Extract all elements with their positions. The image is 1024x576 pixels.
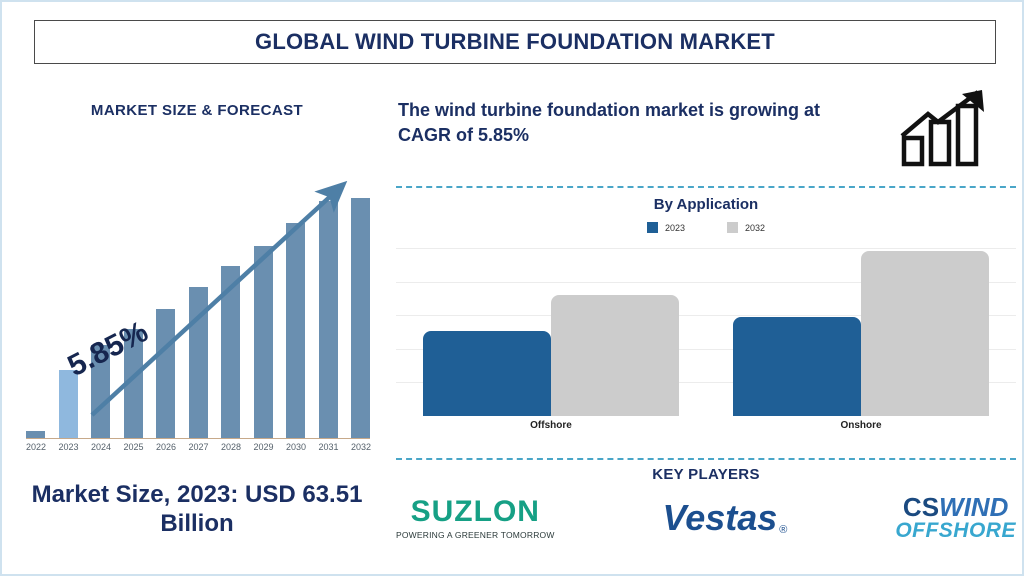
legend-swatch-2023	[647, 222, 658, 233]
market-size-bar-2027	[189, 287, 208, 438]
cswind-wordmark-line1: CSWIND	[903, 494, 1008, 520]
cswind-cs-text: CS	[903, 492, 939, 522]
market-size-year-2024: 2024	[91, 442, 110, 458]
growth-bar-chart-arrow-icon	[898, 88, 994, 168]
market-size-year-2029: 2029	[254, 442, 273, 458]
market-size-bar-2030	[286, 223, 305, 438]
market-size-year-2032: 2032	[351, 442, 370, 458]
bar-onshore-2023	[733, 317, 861, 416]
market-size-bar-2022	[26, 431, 45, 438]
market-size-year-2026: 2026	[156, 442, 175, 458]
page-title: GLOBAL WIND TURBINE FOUNDATION MARKET	[255, 29, 775, 55]
cagr-headline: The wind turbine foundation market is gr…	[398, 98, 858, 148]
legend-swatch-2032	[727, 222, 738, 233]
divider-bottom	[396, 458, 1016, 460]
bar-group-offshore	[396, 295, 706, 416]
legend-label-2032: 2032	[745, 223, 765, 233]
logo-suzlon[interactable]: SUZLON POWERING A GREENER TOMORROW	[396, 497, 555, 540]
by-application-legend: 20232032	[396, 222, 1016, 233]
market-size-year-2023: 2023	[59, 442, 78, 458]
logo-cs-wind-offshore[interactable]: CSWIND OFFSHORE	[895, 494, 1016, 542]
logo-vestas[interactable]: Vestas®	[663, 500, 788, 536]
by-application-chart: OffshoreOnshore	[396, 248, 1016, 438]
market-size-year-labels: 2022202320242025202620272028202920302031…	[26, 442, 370, 458]
market-size-heading: MARKET SIZE & FORECAST	[8, 102, 386, 119]
legend-label-2023: 2023	[665, 223, 685, 233]
cswind-wind-text: WIND	[939, 492, 1008, 522]
by-application-title: By Application	[396, 196, 1016, 213]
market-size-year-2028: 2028	[221, 442, 240, 458]
key-players-title: KEY PLAYERS	[396, 466, 1016, 483]
market-size-year-2031: 2031	[319, 442, 338, 458]
infographic-canvas: GLOBAL WIND TURBINE FOUNDATION MARKET MA…	[0, 0, 1024, 576]
market-size-bar-2029	[254, 246, 273, 438]
legend-item-2032: 2032	[727, 222, 765, 233]
category-label-onshore: Onshore	[706, 420, 1016, 431]
market-size-bar-2026	[156, 309, 175, 438]
suzlon-tagline: POWERING A GREENER TOMORROW	[396, 530, 555, 540]
registered-mark-icon: ®	[779, 524, 787, 536]
divider-top	[396, 186, 1016, 188]
bar-offshore-2023	[423, 331, 551, 416]
title-box: GLOBAL WIND TURBINE FOUNDATION MARKET	[34, 20, 996, 64]
market-size-baseline	[26, 438, 370, 439]
right-panel: The wind turbine foundation market is gr…	[392, 80, 1020, 572]
market-size-year-2022: 2022	[26, 442, 45, 458]
category-label-offshore: Offshore	[396, 420, 706, 431]
market-size-bar-2032	[351, 198, 370, 438]
market-size-chart: 2022202320242025202620272028202920302031…	[22, 175, 374, 460]
cswind-offshore-text: OFFSHORE	[895, 520, 1016, 542]
vestas-text: Vestas	[663, 497, 778, 538]
market-size-bar-2028	[221, 266, 240, 438]
vestas-wordmark: Vestas®	[663, 500, 788, 536]
market-size-bar-2025	[124, 329, 143, 438]
key-players-logos: SUZLON POWERING A GREENER TOMORROW Vesta…	[396, 486, 1016, 550]
by-application-bars	[396, 248, 1016, 416]
bar-onshore-2032	[861, 251, 989, 416]
market-size-panel: MARKET SIZE & FORECAST 20222023202420252…	[8, 80, 386, 572]
market-size-year-2027: 2027	[189, 442, 208, 458]
legend-item-2023: 2023	[647, 222, 685, 233]
market-size-bars	[26, 198, 370, 438]
bar-offshore-2032	[551, 295, 679, 416]
market-size-caption: Market Size, 2023: USD 63.51 Billion	[14, 480, 380, 539]
market-size-year-2025: 2025	[124, 442, 143, 458]
suzlon-wordmark: SUZLON	[411, 497, 540, 527]
market-size-bar-2023	[59, 370, 78, 438]
bar-group-onshore	[706, 251, 1016, 416]
market-size-year-2030: 2030	[286, 442, 305, 458]
by-application-category-labels: OffshoreOnshore	[396, 420, 1016, 431]
market-size-bar-2024	[91, 345, 110, 438]
market-size-bar-2031	[319, 201, 338, 438]
